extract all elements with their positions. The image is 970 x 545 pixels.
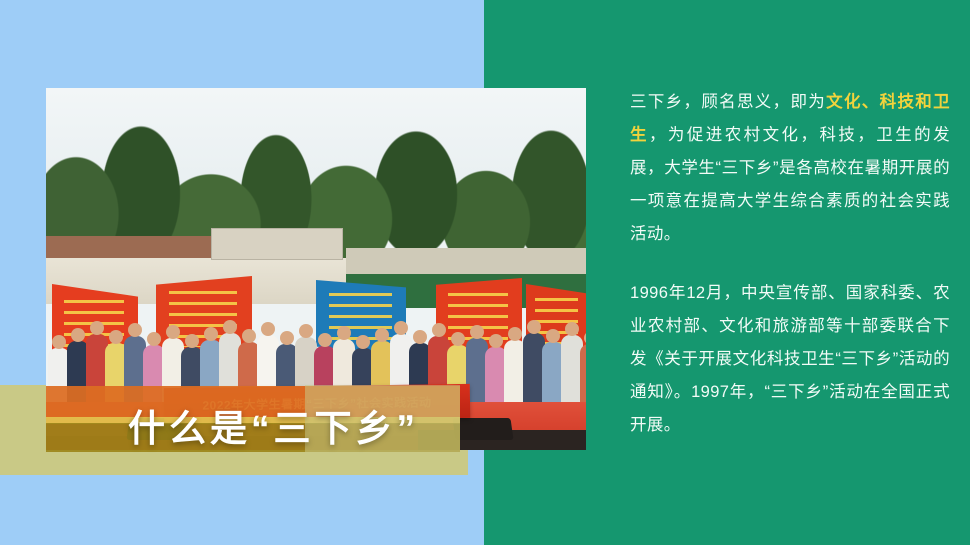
photo-speaker-right: [452, 418, 513, 440]
photo-person-head: [565, 322, 579, 336]
photo-person-head: [375, 328, 389, 342]
body-text-column: 三下乡，顾名思义，即为文化、科技和卫生，为促进农村文化，科技，卫生的发展，大学生…: [630, 86, 950, 468]
photo-person-head: [413, 330, 427, 344]
photo-person-head: [147, 332, 161, 346]
photo-person-head: [109, 330, 123, 344]
photo-person-head: [546, 329, 560, 343]
photo-person-head: [299, 324, 313, 338]
slide-root: 2022年大学生暑期“三下乡”社会实践活动 什么是“三下乡” 三下乡，顾名思义，…: [0, 0, 970, 545]
photo-person-head: [204, 327, 218, 341]
photo-person-head: [166, 325, 180, 339]
body-text-run: 1996年12月，中央宣传部、国家科委、农业农村部、文化和旅游部等十部委联合下发…: [630, 284, 950, 434]
photo-person: [580, 344, 586, 402]
photo-person-head: [280, 331, 294, 345]
paragraph-history: 1996年12月，中央宣传部、国家科委、农业农村部、文化和旅游部等十部委联合下发…: [630, 277, 950, 442]
page-title: 什么是“三下乡”: [128, 398, 419, 452]
photo-person-head: [90, 321, 104, 335]
photo-person-head: [432, 323, 446, 337]
photo-person-head: [508, 327, 522, 341]
photo-person-head: [242, 329, 256, 343]
body-text-run: ，为促进农村文化，科技，卫生的发展，大学生“三下乡”是各高校在暑期开展的一项意在…: [630, 126, 950, 243]
photo-person-head: [128, 323, 142, 337]
photo-person-head: [489, 334, 503, 348]
photo-person-head: [356, 335, 370, 349]
photo-person-head: [394, 321, 408, 335]
photo-person-head: [261, 322, 275, 336]
photo-hanging-sign: [211, 228, 343, 260]
body-text-run: 三下乡，顾名思义，即为: [630, 93, 826, 111]
photo-person-head: [71, 328, 85, 342]
photo-person-head: [470, 325, 484, 339]
photo-person-head: [185, 334, 199, 348]
photo-person-head: [584, 331, 586, 345]
photo-person-head: [527, 320, 541, 334]
paragraph-definition: 三下乡，顾名思义，即为文化、科技和卫生，为促进农村文化，科技，卫生的发展，大学生…: [630, 86, 950, 251]
photo-person-head: [451, 332, 465, 346]
photo-person-head: [223, 320, 237, 334]
photo-person-head: [318, 333, 332, 347]
photo-person-head: [337, 326, 351, 340]
photo-person-head: [52, 335, 66, 349]
